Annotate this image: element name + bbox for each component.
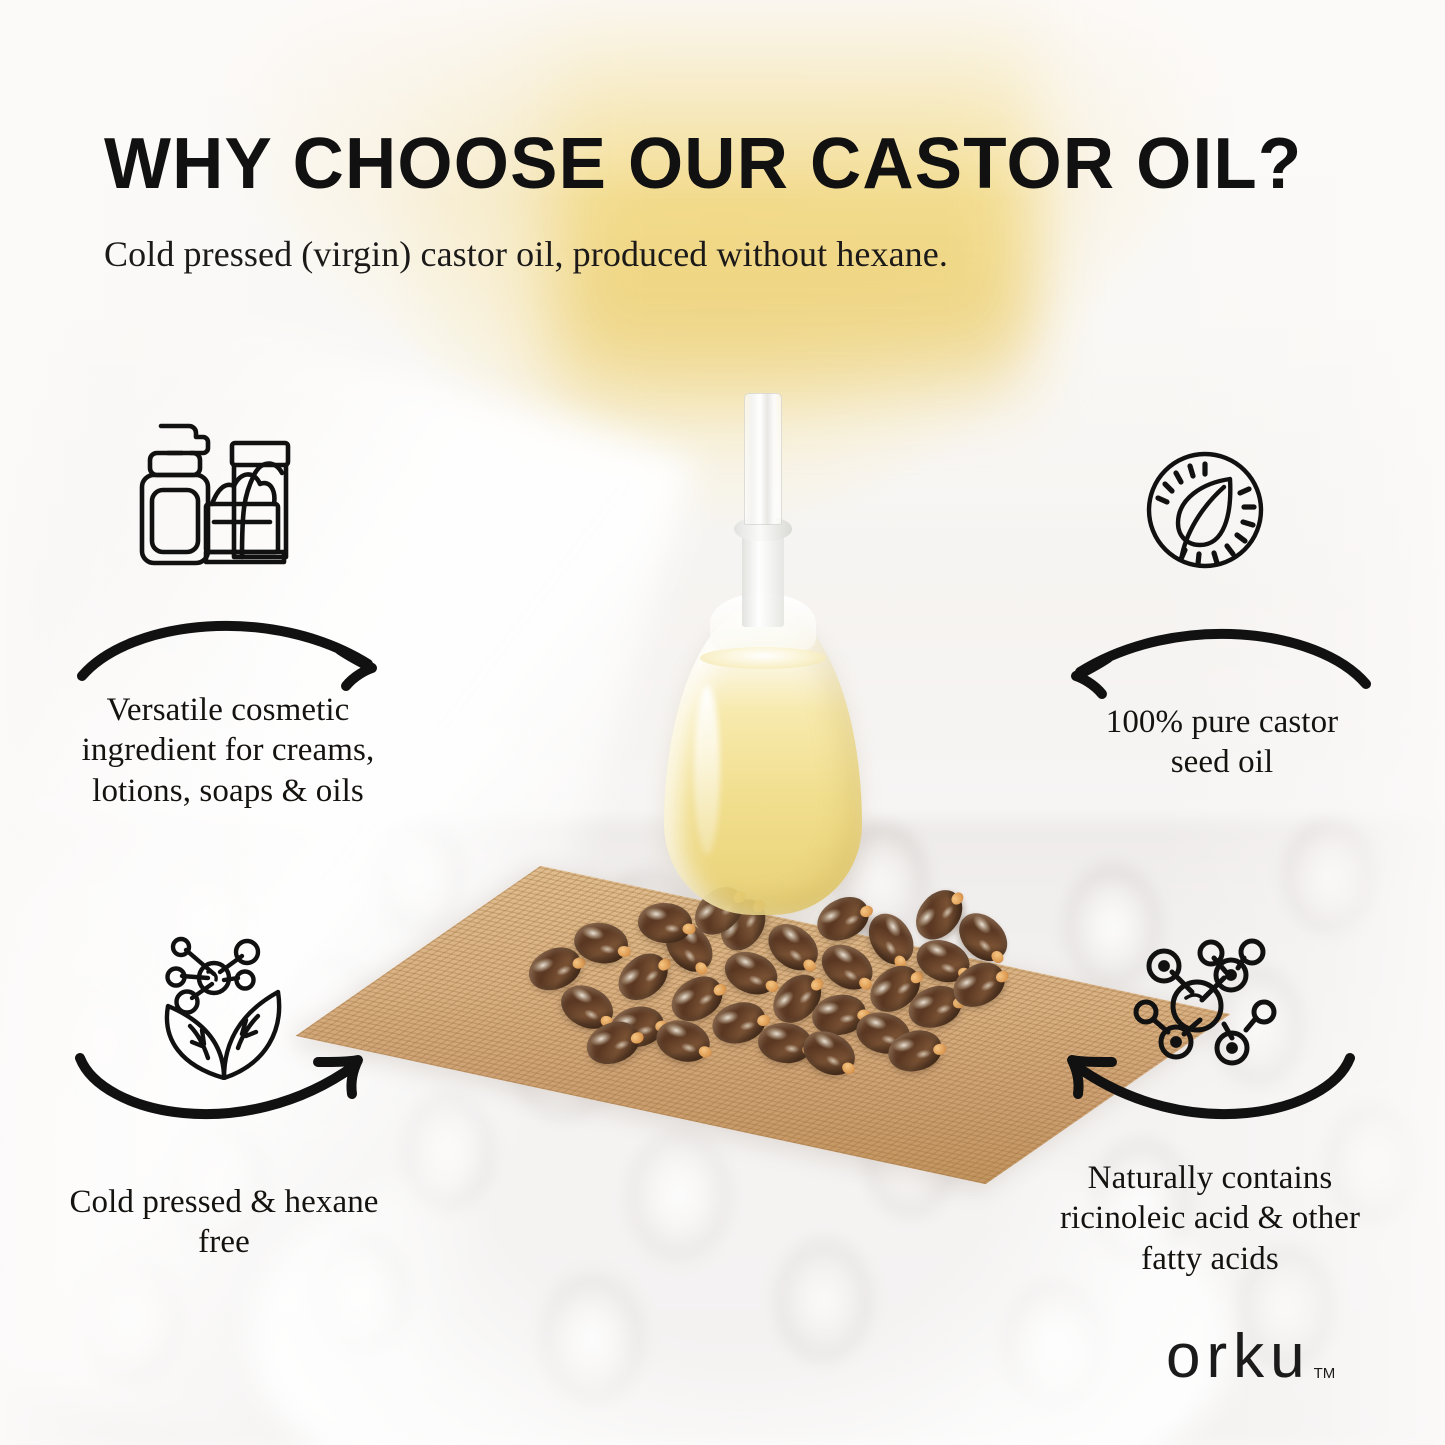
- curved-arrow-right-down-icon: [76, 606, 396, 699]
- leaf-badge-icon: [1140, 445, 1270, 580]
- castor-oil-infographic: WHY CHOOSE OUR CASTOR OIL? Cold pressed …: [0, 0, 1445, 1445]
- header: WHY CHOOSE OUR CASTOR OIL? Cold pressed …: [104, 128, 1364, 276]
- page-subtitle: Cold pressed (virgin) castor oil, produc…: [104, 233, 1364, 276]
- page-title: WHY CHOOSE OUR CASTOR OIL?: [104, 128, 1345, 200]
- brand-logo: orku TM: [1166, 1326, 1335, 1388]
- feature-1-text: Versatile cosmetic ingredient for creams…: [28, 690, 428, 811]
- brand-name: orku: [1166, 1326, 1311, 1388]
- glass-oil-bottle: [658, 385, 868, 915]
- feature-1-line-3: lotions, soaps & oils: [28, 771, 428, 811]
- curved-arrow-right-up-icon: [72, 1048, 372, 1163]
- feature-2-text: 100% pure castor seed oil: [1022, 702, 1422, 783]
- bottle-stopper: [744, 393, 782, 525]
- product-image: [400, 385, 1120, 1145]
- feature-2-line-2: seed oil: [1022, 742, 1422, 782]
- feature-4-line-1: Naturally contains: [1000, 1158, 1420, 1198]
- bottle-neck: [742, 531, 784, 627]
- feature-2-line-1: 100% pure castor: [1022, 702, 1422, 742]
- trademark-symbol: TM: [1314, 1366, 1336, 1381]
- curved-arrow-left-down-icon: [1052, 614, 1372, 707]
- feature-3-text: Cold pressed & hexane free: [14, 1182, 434, 1263]
- feature-4-text: Naturally contains ricinoleic acid & oth…: [1000, 1158, 1420, 1279]
- feature-4-line-2: ricinoleic acid & other: [1000, 1198, 1420, 1238]
- bottle-highlight: [694, 685, 720, 855]
- feature-3-line-2: free: [14, 1222, 434, 1262]
- feature-1-line-1: Versatile cosmetic: [28, 690, 428, 730]
- feature-3-line-1: Cold pressed & hexane: [14, 1182, 434, 1222]
- oil-surface: [700, 647, 826, 669]
- feature-1-line-2: ingredient for creams,: [28, 730, 428, 770]
- cosmetics-bottles-icon: [128, 410, 304, 575]
- curved-arrow-left-up-icon: [1058, 1048, 1358, 1163]
- feature-4-line-3: fatty acids: [1000, 1239, 1420, 1279]
